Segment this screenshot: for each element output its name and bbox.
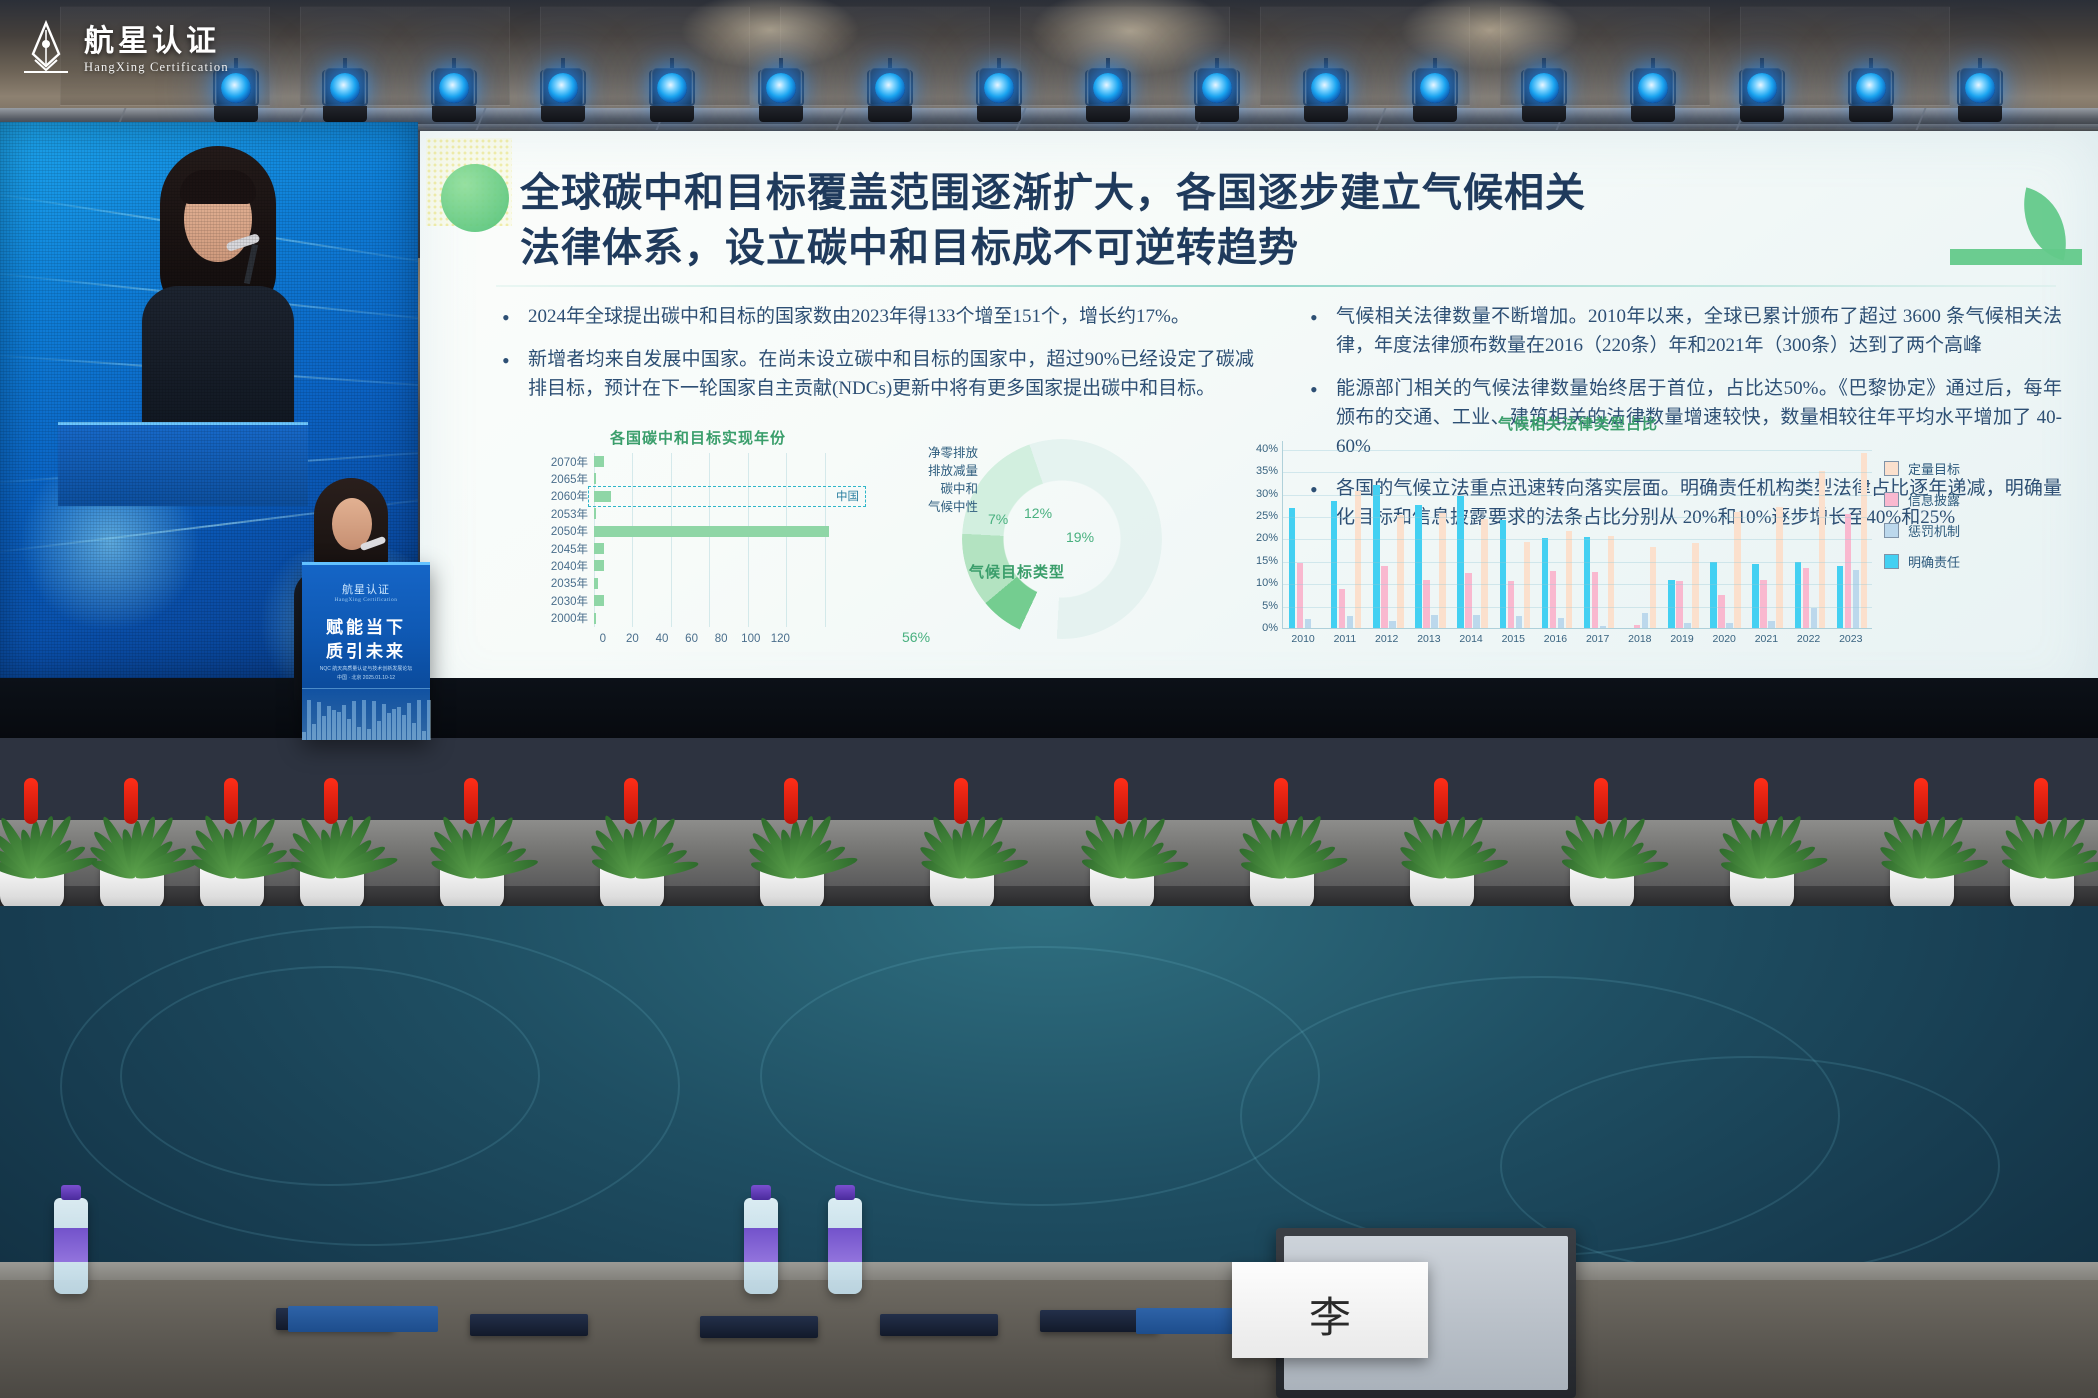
bar bbox=[1684, 623, 1691, 628]
legend-swatch bbox=[1884, 523, 1899, 538]
bar bbox=[594, 560, 604, 571]
bar bbox=[1837, 566, 1844, 628]
x-axis-tick: 2021 bbox=[1755, 633, 1778, 645]
bromeliad-flower bbox=[124, 778, 138, 824]
bar bbox=[1381, 566, 1388, 628]
potted-plant bbox=[1090, 740, 1180, 910]
bromeliad-flower bbox=[1274, 778, 1288, 824]
y-axis-tick: 30% bbox=[1240, 488, 1278, 500]
donut-label-3: 气候中性 bbox=[874, 499, 978, 515]
bar bbox=[1803, 568, 1810, 628]
donut-value-0: 7% bbox=[988, 511, 1008, 527]
bar-group bbox=[1795, 440, 1826, 628]
water-bottle bbox=[54, 1198, 88, 1294]
bar bbox=[1776, 507, 1783, 628]
stage-light bbox=[1084, 68, 1132, 130]
bar bbox=[1289, 508, 1296, 628]
bar bbox=[1734, 512, 1741, 628]
donut-value-3: 56% bbox=[902, 629, 930, 645]
legend-label: 信息披露 bbox=[1908, 490, 1960, 509]
potted-plant bbox=[0, 740, 90, 910]
legend-swatch bbox=[1884, 461, 1899, 476]
stage-light bbox=[1520, 68, 1568, 130]
logo-text: 航星认证 HangXing Certification bbox=[84, 26, 266, 76]
name-plate: 李 bbox=[1232, 1262, 1428, 1358]
bar bbox=[1423, 580, 1430, 628]
bar bbox=[1331, 501, 1338, 628]
bar-category-label: 2040年 bbox=[528, 558, 594, 574]
bar bbox=[594, 526, 829, 537]
x-axis-tick: 2014 bbox=[1459, 633, 1482, 645]
stage-light bbox=[430, 68, 478, 130]
legend-swatch bbox=[1884, 554, 1899, 569]
potted-plant bbox=[1730, 740, 1820, 910]
slide-title-line2: 法律体系，设立碳中和目标成不可逆转趋势 bbox=[520, 220, 1980, 275]
stage-light bbox=[975, 68, 1023, 130]
y-axis-tick: 0% bbox=[1240, 622, 1278, 634]
bar bbox=[594, 543, 604, 554]
name-plate-text: 李 bbox=[1232, 1284, 1428, 1345]
bar bbox=[1481, 519, 1488, 628]
bar bbox=[1439, 513, 1446, 628]
bar bbox=[1718, 595, 1725, 628]
y-axis-tick: 35% bbox=[1240, 465, 1278, 477]
stage-light bbox=[1411, 68, 1459, 130]
potted-plant bbox=[100, 740, 190, 910]
blue-booklet bbox=[288, 1306, 438, 1332]
bar bbox=[1473, 615, 1480, 628]
bar-row: 2040年 bbox=[528, 557, 868, 574]
bar bbox=[1542, 538, 1549, 628]
bromeliad-flower bbox=[954, 778, 968, 824]
stage-light bbox=[321, 68, 369, 130]
potted-plant bbox=[440, 740, 530, 910]
head-table bbox=[0, 1280, 2098, 1398]
potted-plant bbox=[930, 740, 1020, 910]
bar bbox=[1642, 613, 1649, 628]
potted-plant bbox=[2010, 740, 2098, 910]
donut-value-1: 12% bbox=[1024, 505, 1052, 521]
x-axis-tick: 2017 bbox=[1586, 633, 1609, 645]
bar bbox=[1676, 581, 1683, 628]
potted-plant bbox=[600, 740, 690, 910]
bar bbox=[1415, 505, 1422, 628]
bar-row: 2030年 bbox=[528, 592, 868, 609]
bromeliad-flower bbox=[2034, 778, 2048, 824]
logo-text-en: HangXing Certification bbox=[84, 60, 229, 74]
bar bbox=[1634, 625, 1641, 628]
bar-category-label: 2035年 bbox=[528, 575, 594, 591]
podium-headline-2: 质引未来 bbox=[302, 637, 430, 662]
podium: 航星认证 HangXing Certification 赋能当下 质引未来 NQ… bbox=[302, 562, 430, 740]
bar-category-label: 2000年 bbox=[528, 610, 594, 626]
bromeliad-flower bbox=[1114, 778, 1128, 824]
legend-label: 定量目标 bbox=[1908, 459, 1960, 478]
channel-logo-watermark: 航星认证 HangXing Certification bbox=[18, 12, 266, 90]
bottle-cap bbox=[835, 1185, 855, 1200]
stage-light bbox=[1302, 68, 1350, 130]
bar bbox=[1566, 531, 1573, 628]
presentation-slide: 全球碳中和目标覆盖范围逐渐扩大，各国逐步建立气候相关 法律体系，设立碳中和目标成… bbox=[420, 131, 2098, 708]
stage-light bbox=[1956, 68, 2004, 130]
bar bbox=[1710, 562, 1717, 628]
bar bbox=[594, 508, 596, 519]
bar bbox=[1811, 608, 1818, 628]
document-folder bbox=[880, 1314, 998, 1336]
bar-group bbox=[1542, 440, 1573, 628]
document-folder bbox=[470, 1314, 588, 1336]
bar-group bbox=[1457, 440, 1488, 628]
bar bbox=[1853, 570, 1860, 628]
x-axis-tick: 2015 bbox=[1502, 633, 1525, 645]
bar-group bbox=[1500, 440, 1531, 628]
bar-group bbox=[1415, 440, 1446, 628]
potted-plant bbox=[1890, 740, 1980, 910]
bar bbox=[1550, 571, 1557, 628]
bar bbox=[1431, 615, 1438, 628]
highlight-box: 中国 bbox=[588, 486, 866, 507]
bar-group bbox=[1584, 440, 1615, 628]
bar-row: 2053年 bbox=[528, 505, 868, 522]
video-feed-podium bbox=[58, 422, 308, 506]
chart-legend: 定量目标信息披露惩罚机制明确责任 bbox=[1884, 459, 1960, 583]
x-axis-tick: 2023 bbox=[1839, 633, 1862, 645]
bromeliad-flower bbox=[24, 778, 38, 824]
video-feed-speaker bbox=[122, 146, 312, 446]
bromeliad-flower bbox=[784, 778, 798, 824]
legend-label: 明确责任 bbox=[1908, 552, 1960, 571]
bar bbox=[1305, 619, 1312, 628]
stage-light bbox=[1847, 68, 1895, 130]
stage-light bbox=[1193, 68, 1241, 130]
bromeliad-flower bbox=[224, 778, 238, 824]
x-axis-tick: 2020 bbox=[1713, 633, 1736, 645]
x-axis-tick: 2018 bbox=[1628, 633, 1651, 645]
bar bbox=[594, 473, 596, 484]
podium-headline-1: 赋能当下 bbox=[302, 613, 430, 638]
bar bbox=[1608, 536, 1615, 628]
bar bbox=[1347, 616, 1354, 628]
bar bbox=[594, 578, 598, 589]
document-folder bbox=[700, 1316, 818, 1338]
bar bbox=[1726, 623, 1733, 628]
bar-category-label: 2060年 bbox=[528, 488, 594, 504]
bar bbox=[594, 613, 596, 624]
stage-light bbox=[866, 68, 914, 130]
bottle-cap bbox=[61, 1185, 81, 1200]
chart-title: 气候相关法律类型占比 bbox=[1228, 413, 1928, 434]
bar bbox=[1760, 580, 1767, 628]
stage-light bbox=[1738, 68, 1786, 130]
bar-row: 2045年 bbox=[528, 540, 868, 557]
bromeliad-flower bbox=[624, 778, 638, 824]
potted-plant bbox=[300, 740, 390, 910]
donut-ring bbox=[962, 439, 1162, 639]
chart-title: 各国碳中和目标实现年份 bbox=[528, 427, 868, 448]
legend-item: 定量目标 bbox=[1884, 459, 1960, 478]
legend-item: 惩罚机制 bbox=[1884, 521, 1960, 540]
x-axis-tick: 2019 bbox=[1670, 633, 1693, 645]
stage-light bbox=[648, 68, 696, 130]
x-axis-tick: 120 bbox=[760, 633, 802, 645]
bar-group bbox=[1710, 440, 1741, 628]
bottle-cap bbox=[751, 1185, 771, 1200]
slide-title: 全球碳中和目标覆盖范围逐渐扩大，各国逐步建立气候相关 法律体系，设立碳中和目标成… bbox=[520, 165, 1980, 275]
list-item: 2024年全球提出碳中和目标的国家数由2023年得133个增至151个，增长约1… bbox=[492, 303, 1254, 332]
bar-category-label: 2070年 bbox=[528, 454, 594, 470]
potted-plant bbox=[1250, 740, 1340, 910]
bar bbox=[1465, 573, 1472, 628]
bar bbox=[1692, 543, 1699, 628]
y-axis-tick: 40% bbox=[1240, 443, 1278, 455]
bar bbox=[1650, 547, 1657, 628]
x-axis-tick: 2012 bbox=[1375, 633, 1398, 645]
bar bbox=[1845, 514, 1852, 628]
stage-light bbox=[1629, 68, 1677, 130]
donut-label-2: 碳中和 bbox=[874, 481, 978, 497]
bromeliad-flower bbox=[1914, 778, 1928, 824]
bar bbox=[1752, 564, 1759, 628]
title-divider bbox=[496, 285, 2056, 287]
x-axis-tick: 2016 bbox=[1544, 633, 1567, 645]
donut-label-0: 净零排放 bbox=[874, 445, 978, 461]
bar bbox=[1339, 589, 1346, 628]
bar bbox=[1516, 616, 1523, 628]
x-axis-tick: 2010 bbox=[1291, 633, 1314, 645]
podium-logo: 航星认证 HangXing Certification bbox=[302, 581, 430, 603]
bar bbox=[1500, 520, 1507, 628]
bromeliad-flower bbox=[464, 778, 478, 824]
bromeliad-flower bbox=[324, 778, 338, 824]
bar bbox=[1558, 618, 1565, 628]
bar-group bbox=[1331, 440, 1362, 628]
potted-plant bbox=[1570, 740, 1660, 910]
legend-label: 惩罚机制 bbox=[1908, 521, 1960, 540]
water-bottle bbox=[828, 1198, 862, 1294]
bromeliad-flower bbox=[1754, 778, 1768, 824]
bar bbox=[1600, 626, 1607, 628]
y-axis-tick: 5% bbox=[1240, 600, 1278, 612]
list-item: 气候相关法律数量不断增加。2010年以来，全球已累计颁布了超过 3600 条气候… bbox=[1300, 303, 2062, 361]
bar-category-label: 2030年 bbox=[528, 593, 594, 609]
green-circle-decoration bbox=[441, 164, 509, 232]
donut-label-1: 排放减量 bbox=[874, 463, 978, 479]
chart-climate-target-types: 净零排放 排放减量 碳中和 气候中性 7% 12% 19% 56% 气候目标类型 bbox=[890, 431, 1190, 681]
bar-row: 2070年 bbox=[528, 453, 868, 470]
bar bbox=[1768, 621, 1775, 628]
bar bbox=[594, 456, 604, 467]
y-axis-tick: 25% bbox=[1240, 510, 1278, 522]
x-axis-tick: 2013 bbox=[1417, 633, 1440, 645]
bromeliad-flower bbox=[1594, 778, 1608, 824]
podium-skyline-graphic bbox=[302, 688, 430, 740]
bar bbox=[1297, 563, 1304, 628]
bar bbox=[1668, 580, 1675, 628]
stage-light bbox=[539, 68, 587, 130]
bar-group bbox=[1752, 440, 1783, 628]
x-axis-tick: 2022 bbox=[1797, 633, 1820, 645]
conference-hall-scene: 全球碳中和目标覆盖范围逐渐扩大，各国逐步建立气候相关 法律体系，设立碳中和目标成… bbox=[0, 0, 2098, 1398]
bar bbox=[1397, 515, 1404, 628]
highlight-label: 中国 bbox=[836, 488, 859, 504]
rocket-star-emblem-icon bbox=[18, 20, 74, 82]
donut-center-title: 气候目标类型 bbox=[912, 561, 1122, 582]
bar bbox=[1592, 572, 1599, 628]
bar-row: 2035年 bbox=[528, 575, 868, 592]
podium-subtitle: NQC 航天高质量认证与技术创新发展论坛 中国 · 北京 2025.01.10-… bbox=[302, 665, 430, 683]
bar-row: 2050年 bbox=[528, 523, 868, 540]
water-bottle bbox=[744, 1198, 778, 1294]
potted-plant bbox=[200, 740, 290, 910]
y-axis-tick: 10% bbox=[1240, 577, 1278, 589]
chart-climate-law-types: 气候相关法律类型占比 0%5%10%15%20%25%30%35%40% 201… bbox=[1228, 413, 1928, 683]
bar-group bbox=[1289, 440, 1320, 628]
bar-category-label: 2050年 bbox=[528, 523, 594, 539]
bar-category-label: 2065年 bbox=[528, 471, 594, 487]
left-bullet-list: 2024年全球提出碳中和目标的国家数由2023年得133个增至151个，增长约1… bbox=[492, 303, 1254, 404]
bar-category-label: 2045年 bbox=[528, 541, 594, 557]
list-item: 新增者均来自发展中国家。在尚未设立碳中和目标的国家中，超过90%已经设定了碳减排… bbox=[492, 346, 1254, 404]
bar bbox=[594, 595, 604, 606]
chart-carbon-neutral-target-years: 各国碳中和目标实现年份 2070年2065年2060年2053年2050年204… bbox=[528, 427, 868, 677]
bar-group bbox=[1837, 440, 1868, 628]
legend-item: 信息披露 bbox=[1884, 490, 1960, 509]
bar-group bbox=[1668, 440, 1699, 628]
donut-value-2: 19% bbox=[1066, 529, 1094, 545]
bromeliad-flower bbox=[1434, 778, 1448, 824]
bar-row: 2000年 bbox=[528, 610, 868, 627]
y-axis-tick: 20% bbox=[1240, 532, 1278, 544]
bar bbox=[1508, 581, 1515, 628]
potted-plant bbox=[1410, 740, 1500, 910]
bar bbox=[1795, 562, 1802, 628]
slide-title-line1: 全球碳中和目标覆盖范围逐渐扩大，各国逐步建立气候相关 bbox=[520, 165, 1980, 220]
bar-group bbox=[1373, 440, 1404, 628]
bar-category-label: 2053年 bbox=[528, 506, 594, 522]
stage-light bbox=[757, 68, 805, 130]
bar bbox=[1389, 621, 1396, 628]
bar bbox=[1584, 537, 1591, 628]
potted-plant bbox=[760, 740, 850, 910]
bar-group bbox=[1626, 440, 1657, 628]
logo-text-cn: 航星认证 bbox=[84, 25, 220, 58]
x-axis-tick: 2011 bbox=[1334, 633, 1357, 645]
legend-swatch bbox=[1884, 492, 1899, 507]
legend-item: 明确责任 bbox=[1884, 552, 1960, 571]
y-axis-tick: 15% bbox=[1240, 555, 1278, 567]
